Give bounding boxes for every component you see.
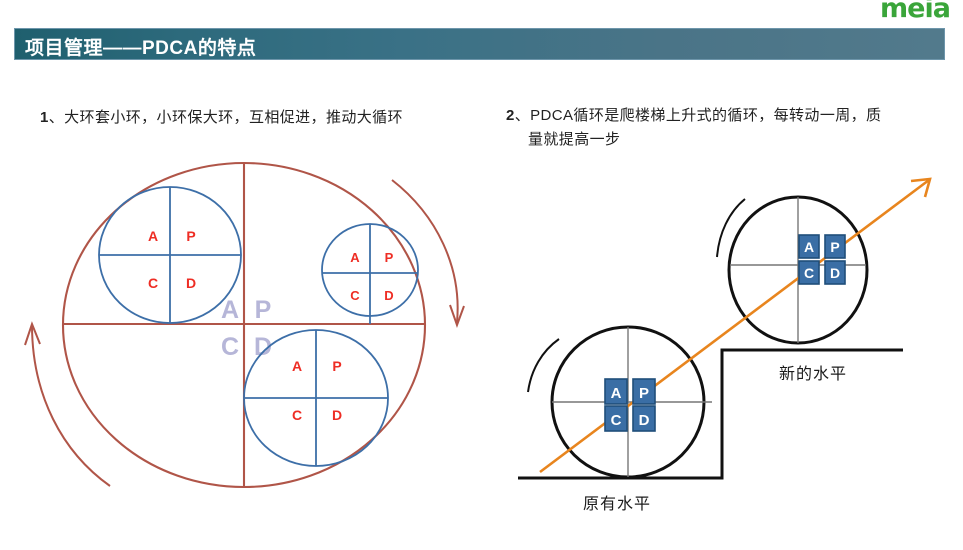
ghost-letter-d: D [254,333,272,361]
cycle-lower-letter-c: C [292,407,302,423]
box-p-lower-letter: P [639,385,649,402]
ascending-arrow-line [540,180,929,472]
box-a-upper [799,235,819,258]
caption-left-number: 1 [40,109,49,126]
box-p-upper-letter: P [830,239,839,255]
box-p-upper [825,235,845,258]
cycle-lower-letter-d: D [332,407,342,423]
cycle-upper-right: A P C D [322,224,418,324]
step-cycle-upper-rotation-arc [717,199,745,257]
caption-right-text-line2: 量就提高一步 [506,128,916,152]
label-original-level: 原有水平 [583,490,651,514]
ghost-letter-c: C [221,333,239,361]
box-c-upper-letter: C [804,265,814,281]
rotation-arrow-left [32,325,110,486]
box-d-lower [633,406,655,431]
ascending-arrow-head [911,179,930,197]
step-cycle-upper-boxes: A P C D [799,235,845,284]
step-cycle-upper-circle [729,197,867,343]
label-new-level: 新的水平 [779,360,847,384]
step-cycle-lower [528,327,712,477]
left-diagram: A P C D A P C D A P C D A [0,0,963,550]
slide-canvas: meia 项目管理——PDCA的特点 1、大环套小环，小环保大环，互相促进，推动… [0,0,963,550]
caption-left-text: 、大环套小环，小环保大环，互相促进，推动大循环 [49,109,403,126]
cycle-lower-letter-p: P [332,358,341,374]
cycle-upper-left-letter-a: A [148,228,158,244]
cycle-lower-letter-a: A [292,358,302,374]
slide-title-bar: 项目管理——PDCA的特点 [14,28,945,60]
step-cycle-lower-rotation-arc [528,339,559,392]
caption-right: 2、PDCA循环是爬楼梯上升式的循环，每转动一周，质 量就提高一步 [506,104,916,152]
right-diagram: A P C D A P C D [0,0,963,550]
caption-right-text-line1: 、PDCA循环是爬楼梯上升式的循环，每转动一周，质 [515,107,882,124]
cycle-upper-left-circle [99,187,241,323]
rotation-arrow-right-head [450,305,464,325]
rotation-arrow-right [392,180,458,322]
box-a-lower-letter: A [611,385,622,402]
box-c-lower-letter: C [611,412,622,429]
cycle-upper-right-letter-d: D [384,288,393,303]
cycle-upper-left-letter-p: P [186,228,195,244]
ghost-letter-a: A [221,296,239,324]
box-c-upper [799,261,819,284]
box-p-lower [633,379,655,404]
box-a-upper-letter: A [804,239,814,255]
box-d-lower-letter: D [639,412,650,429]
step-cycle-lower-boxes: A P C D [605,379,655,431]
caption-right-number: 2 [506,107,515,124]
box-d-upper [825,261,845,284]
step-cycle-lower-circle [552,327,704,477]
cycle-lower-circle [244,330,388,466]
cycle-upper-right-circle [322,224,418,316]
cycle-upper-right-letter-p: P [385,250,394,265]
cycle-lower: A P C D [244,330,388,466]
rotation-arrow-left-head [25,324,40,345]
meia-logo: meia [880,0,960,24]
ghost-letter-p: P [255,296,272,324]
box-c-lower [605,406,627,431]
caption-left: 1、大环套小环，小环保大环，互相促进，推动大循环 [40,106,480,130]
box-a-lower [605,379,627,404]
cycle-upper-right-letter-c: C [350,288,360,303]
cycle-upper-left: A P C D [99,187,241,323]
cycle-upper-left-letter-c: C [148,275,158,291]
step-cycle-upper [717,197,867,343]
cycle-upper-left-letter-d: D [186,275,196,291]
big-cycle-ellipse [63,163,425,487]
cycle-upper-right-letter-a: A [350,250,360,265]
box-d-upper-letter: D [830,265,840,281]
page-title: 项目管理——PDCA的特点 [25,33,256,60]
